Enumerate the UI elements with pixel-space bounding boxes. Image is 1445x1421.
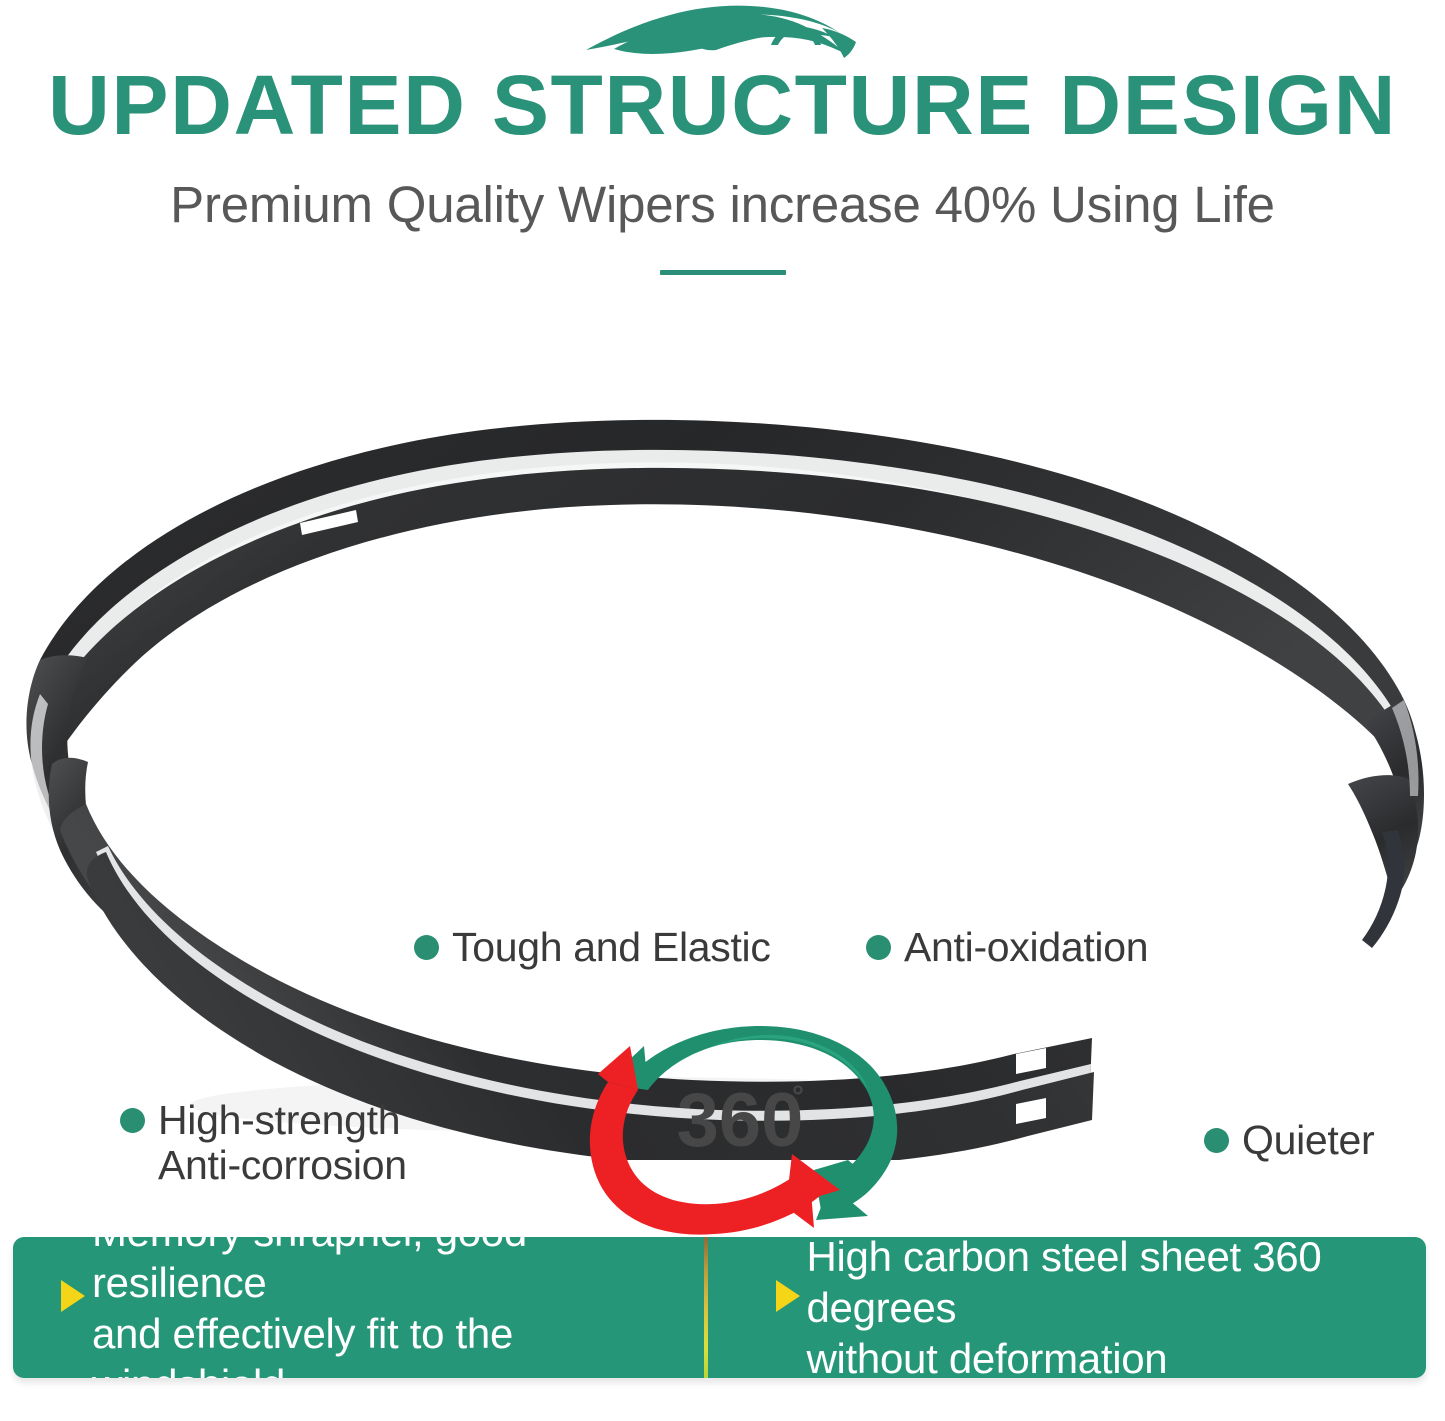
bullet-dot-icon xyxy=(866,935,891,960)
feature-quieter: Quieter xyxy=(1204,1118,1374,1163)
triangle-bullet-icon xyxy=(776,1280,800,1312)
badge-degree-symbol: ° xyxy=(792,1080,804,1113)
feature-label-text: Anti-oxidation xyxy=(904,925,1148,970)
benefit-card-memory-shrapnel: Memory shrapnel, good resilience and eff… xyxy=(13,1237,720,1378)
product-infographic-page: UPDATED STRUCTURE DESIGN Premium Quality… xyxy=(0,0,1445,1421)
page-title: UPDATED STRUCTURE DESIGN xyxy=(0,60,1445,150)
title-underline-divider xyxy=(660,270,786,275)
benefit-text: Memory shrapnel, good resilience and eff… xyxy=(92,1237,698,1378)
car-silhouette-icon xyxy=(0,2,1445,64)
benefit-text: High carbon steel sheet 360 degrees with… xyxy=(807,1237,1405,1378)
bullet-dot-icon xyxy=(1204,1128,1229,1153)
triangle-bullet-icon xyxy=(61,1280,85,1312)
feature-tough-and-elastic: Tough and Elastic xyxy=(414,925,771,970)
feature-label-text: High-strength Anti-corrosion xyxy=(158,1098,407,1188)
bullet-dot-icon xyxy=(120,1108,145,1133)
feature-high-strength-anti-corrosion: High-strength Anti-corrosion xyxy=(120,1098,407,1188)
page-subtitle: Premium Quality Wipers increase 40% Usin… xyxy=(0,176,1445,234)
feature-label-text: Quieter xyxy=(1242,1118,1374,1163)
benefits-banner-row: Memory shrapnel, good resilience and eff… xyxy=(13,1237,1426,1378)
benefit-card-high-carbon-steel: High carbon steel sheet 360 degrees with… xyxy=(720,1237,1427,1378)
360-rotation-arrows-icon: 360 ° xyxy=(578,1020,908,1238)
badge-360-value: 360 xyxy=(677,1078,804,1163)
product-illustration-area: Tough and Elastic Anti-oxidation High-st… xyxy=(0,360,1445,1160)
bullet-dot-icon xyxy=(414,935,439,960)
feature-label-text: Tough and Elastic xyxy=(452,925,771,970)
banner-vertical-divider xyxy=(704,1237,708,1378)
feature-anti-oxidation: Anti-oxidation xyxy=(866,925,1148,970)
